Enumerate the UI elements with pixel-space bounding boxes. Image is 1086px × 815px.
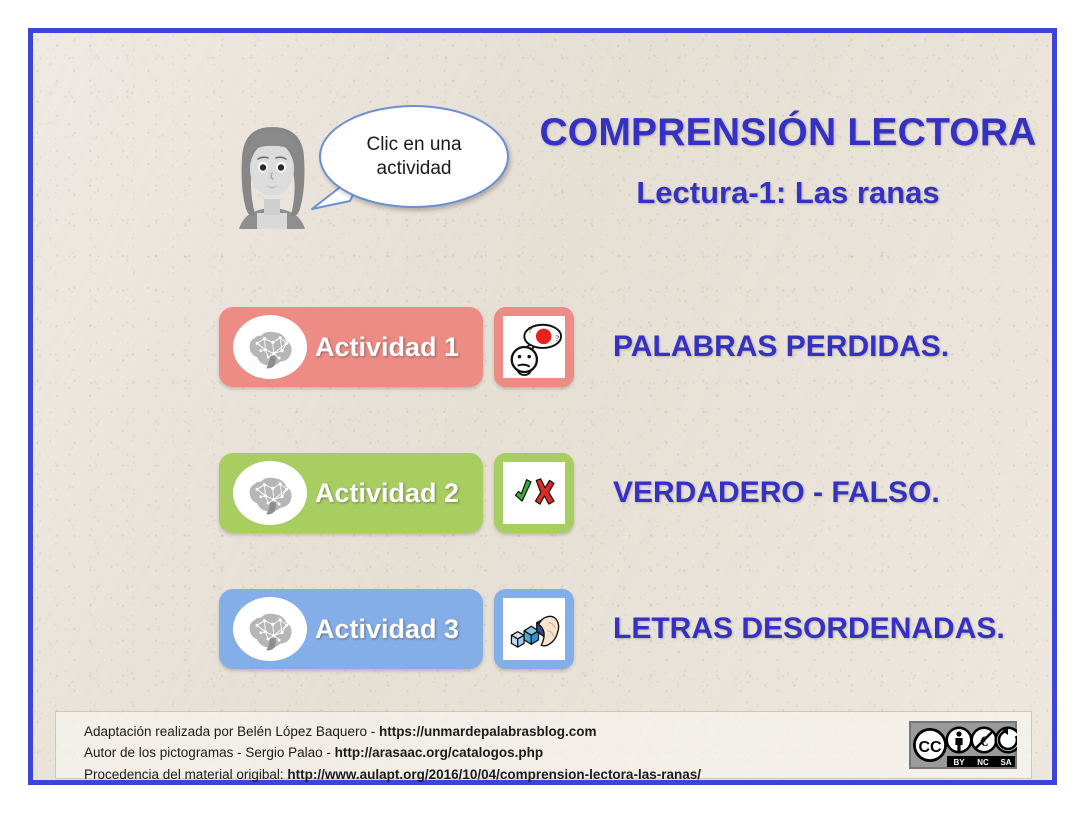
- credit-line: Autor de los pictogramas - Sergio Palao …: [84, 742, 701, 763]
- pictogram-button-2[interactable]: [494, 453, 574, 533]
- slide-canvas: Clic en una actividad COMPRENSIÓN LECTOR…: [28, 28, 1057, 785]
- hand-blocks-icon: [503, 598, 565, 660]
- svg-text:BY: BY: [953, 758, 965, 767]
- activity-button-label-1: Actividad 1: [315, 307, 473, 387]
- brain-network-icon: [233, 315, 307, 379]
- pictogram-button-1[interactable]: ? ?: [494, 307, 574, 387]
- activity-button-label-2: Actividad 2: [315, 453, 473, 533]
- svg-text:?: ?: [555, 333, 559, 343]
- activity-button-1[interactable]: Actividad 1: [219, 307, 483, 387]
- brain-network-icon: [233, 461, 307, 525]
- svg-text:CC: CC: [918, 739, 942, 756]
- face-thought-bubble-red-dot-icon: ? ?: [503, 316, 565, 378]
- check-cross-icon: [503, 462, 565, 524]
- svg-text:SA: SA: [1000, 758, 1011, 767]
- page-title: COMPRENSIÓN LECTORA: [503, 111, 1073, 155]
- footer-credit-lines: Adaptación realizada por Belén López Baq…: [84, 721, 701, 785]
- activity-button-2[interactable]: Actividad 2: [219, 453, 483, 533]
- activity-row-2: Actividad 2 VERDADERO - FALSO.: [33, 449, 1052, 537]
- credit-line: Adaptación realizada por Belén López Baq…: [84, 721, 701, 742]
- credit-text: Adaptación realizada por Belén López Baq…: [84, 724, 379, 739]
- footer-credits-panel: Adaptación realizada por Belén López Baq…: [55, 711, 1032, 779]
- credit-text: Autor de los pictogramas - Sergio Palao …: [84, 745, 335, 760]
- credit-link[interactable]: http://www.aulapt.org/2016/10/04/compren…: [287, 767, 701, 782]
- svg-text:?: ?: [528, 324, 532, 334]
- activity-row-1: Actividad 1 ? ?: [33, 303, 1052, 391]
- svg-text:NC: NC: [977, 758, 989, 767]
- speech-bubble-text: Clic en una actividad: [366, 133, 461, 179]
- activity-description-1: PALABRAS PERDIDAS.: [613, 303, 949, 391]
- page-subtitle: Lectura-1: Las ranas: [503, 175, 1073, 211]
- creative-commons-by-nc-sa-icon[interactable]: CC €: [909, 721, 1017, 769]
- credit-line: Procedencia del material origibal: http:…: [84, 764, 701, 785]
- credit-link[interactable]: http://arasaac.org/catalogos.php: [335, 745, 544, 760]
- brain-network-icon: [233, 597, 307, 661]
- activity-row-3: Actividad 3: [33, 585, 1052, 673]
- woman-avatar-icon: [229, 117, 315, 229]
- activity-description-2: VERDADERO - FALSO.: [613, 449, 940, 537]
- speech-bubble: Clic en una actividad: [319, 105, 509, 208]
- credit-link[interactable]: https://unmardepalabrasblog.com: [379, 724, 597, 739]
- activity-button-3[interactable]: Actividad 3: [219, 589, 483, 669]
- credit-text: Procedencia del material origibal:: [84, 767, 287, 782]
- activity-description-3: LETRAS DESORDENADAS.: [613, 585, 1005, 673]
- pictogram-button-3[interactable]: [494, 589, 574, 669]
- activity-button-label-3: Actividad 3: [315, 589, 473, 669]
